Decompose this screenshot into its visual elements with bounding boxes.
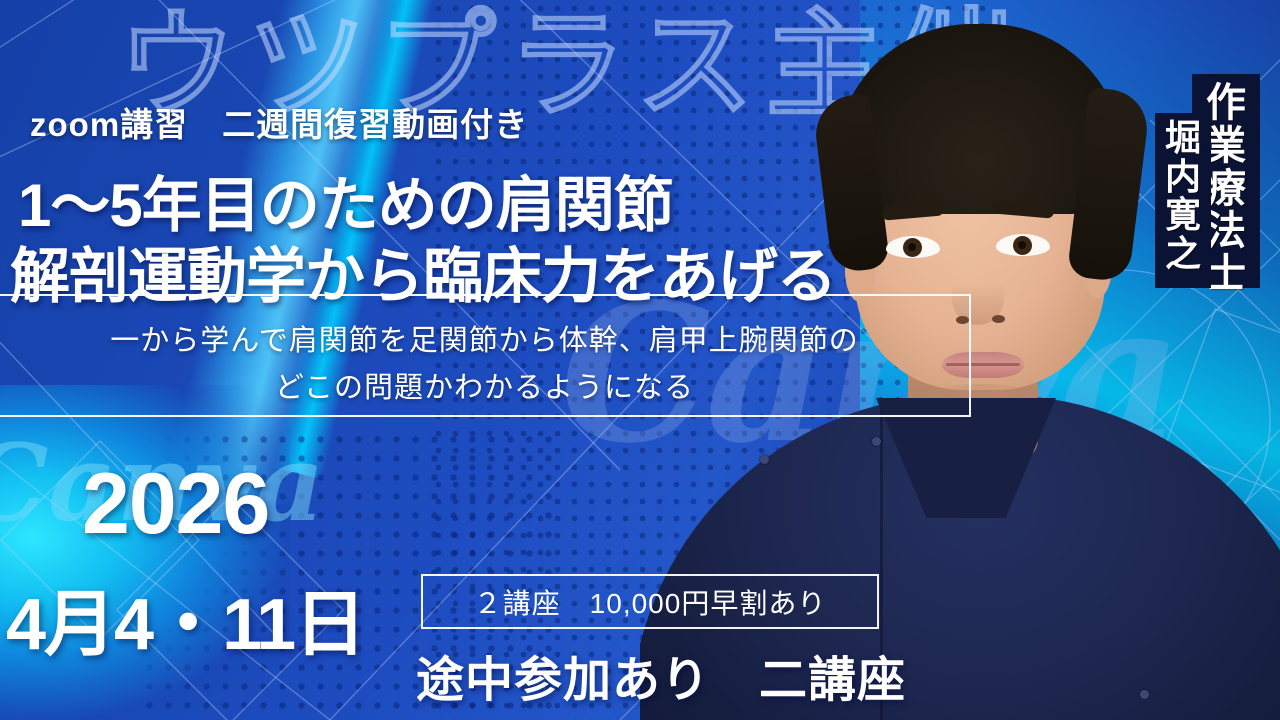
subtitle-line-1: 一から学んで肩関節を足関節から体幹、肩甲上腕関節の [0, 317, 969, 359]
seminar-poster: ウツプラス主催 Canva Canva zoom講習 二週間復習動画付き 1〜5… [0, 0, 1280, 720]
qualification-char: 業 [1206, 125, 1246, 168]
speaker-name-plate: 堀 内 寛 之 [1155, 113, 1211, 288]
qualification-char: 作 [1206, 82, 1246, 125]
qualification-char: 法 [1206, 210, 1246, 253]
scrub-snap-left [760, 455, 769, 464]
qualification-char: 士 [1206, 253, 1246, 296]
name-char: 寛 [1165, 196, 1201, 235]
subtitle-line-2: どこの問題かわかるようになる [0, 364, 969, 406]
scrub-snap-lower [1140, 690, 1149, 699]
price-box: ２講座 10,000円早割あり [421, 574, 879, 629]
speaker-eye-left [886, 236, 940, 258]
price-note-text: ２講座 10,000円早割あり [474, 582, 827, 622]
subtitle-box: 一から学んで肩関節を足関節から体幹、肩甲上腕関節の どこの問題かわかるようになる [0, 294, 971, 417]
speaker-nostril-right [992, 315, 1005, 323]
speaker-hair [836, 24, 1124, 214]
name-char: 之 [1165, 235, 1201, 274]
scrub-snap-right [872, 437, 881, 446]
year-text: 2026 [82, 455, 269, 554]
tagline-text: 途中参加あり 二講座 [416, 640, 906, 710]
name-char: 内 [1165, 158, 1201, 197]
qualification-char: 療 [1206, 168, 1246, 211]
kicker-text: zoom講習 二週間復習動画付き [30, 98, 528, 146]
speaker-eye-right [996, 234, 1050, 256]
date-text: 4月4・11日 [6, 565, 364, 670]
name-char: 堀 [1165, 119, 1201, 158]
